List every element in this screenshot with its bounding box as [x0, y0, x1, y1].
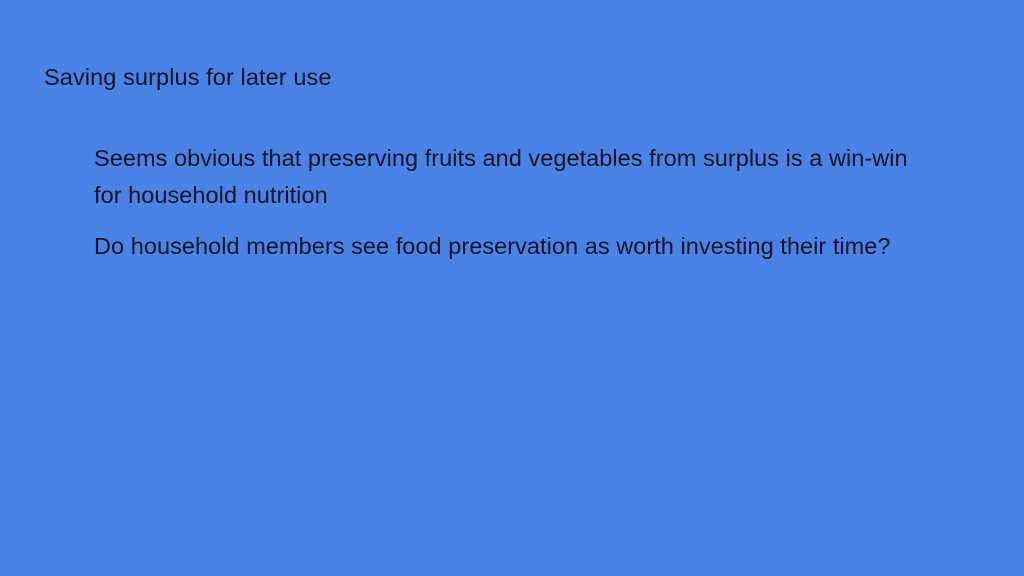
body-paragraph-1-line-2: for household nutrition: [94, 177, 994, 214]
body-paragraph-1-line-1: Seems obvious that preserving fruits and…: [94, 140, 994, 177]
slide-body: Seems obvious that preserving fruits and…: [94, 140, 994, 265]
body-paragraph-2: Do household members see food preservati…: [94, 228, 994, 265]
body-paragraph-1: Seems obvious that preserving fruits and…: [94, 140, 994, 214]
presentation-slide: Saving surplus for later use Seems obvio…: [0, 0, 1024, 576]
body-paragraph-2-line-1: Do household members see food preservati…: [94, 228, 994, 265]
page-title: Saving surplus for later use: [44, 62, 944, 92]
